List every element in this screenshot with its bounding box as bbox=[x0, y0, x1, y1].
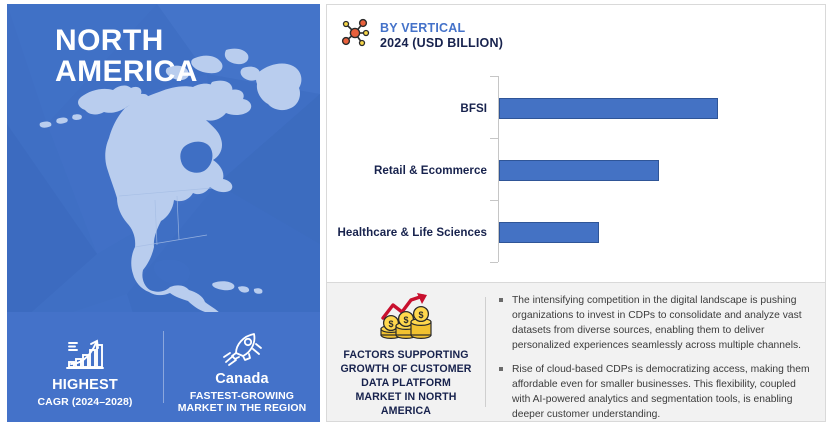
svg-text:$: $ bbox=[418, 310, 423, 320]
svg-text:$: $ bbox=[388, 319, 393, 329]
factors-section: $ $ bbox=[327, 283, 825, 421]
bar-value-healthcare-life-sciences bbox=[499, 222, 599, 243]
network-nodes-icon-svg bbox=[339, 17, 371, 49]
bar-label: Retail & Ecommerce bbox=[327, 164, 493, 177]
coin-stacks-growth-arrow-icon: $ $ bbox=[375, 291, 437, 346]
list-item: Rise of cloud-based CDPs is democratizin… bbox=[496, 362, 815, 422]
chart-header: BY VERTICAL 2024 (USD BILLION) bbox=[339, 17, 503, 54]
bar-label: Healthcare & Life Sciences bbox=[327, 226, 493, 239]
region-title: NORTH AMERICA bbox=[55, 26, 198, 87]
region-title-line2: AMERICA bbox=[55, 57, 198, 88]
content-panel: BY VERTICAL 2024 (USD BILLION) BFSI Reta… bbox=[326, 4, 826, 422]
factors-bullet-list: The intensifying competition in the digi… bbox=[496, 293, 815, 422]
growth-chart-icon-svg bbox=[63, 335, 107, 373]
axis-tick bbox=[490, 76, 498, 77]
chart-subtitle: 2024 (USD BILLION) bbox=[380, 36, 503, 51]
factors-title-line2: GROWTH OF CUSTOMER bbox=[340, 363, 471, 377]
stat-fastest-growing-canada: Canada FASTEST-GROWING MARKET IN THE REG… bbox=[164, 319, 320, 416]
axis-tick bbox=[490, 200, 498, 201]
chart-header-text: BY VERTICAL 2024 (USD BILLION) bbox=[380, 21, 503, 50]
axis-tick bbox=[490, 262, 498, 263]
growth-bar-chart-arrow-icon bbox=[63, 333, 107, 373]
factors-title-line5: AMERICA bbox=[340, 405, 471, 419]
bar-chart: BFSI Retail & Ecommerce Healthcare & Lif… bbox=[327, 67, 825, 279]
infographic-root: NORTH AMERICA bbox=[0, 0, 832, 427]
network-nodes-icon bbox=[339, 17, 371, 54]
bar-value-bfsi bbox=[499, 98, 718, 119]
svg-text:$: $ bbox=[403, 315, 408, 325]
coin-stacks-icon-svg: $ $ bbox=[375, 291, 437, 341]
region-title-line1: NORTH bbox=[55, 26, 198, 57]
stat-title-highest: HIGHEST bbox=[52, 378, 118, 394]
stat-subtitle-line2: MARKET IN THE REGION bbox=[178, 402, 307, 415]
factors-title-line1: FACTORS SUPPORTING bbox=[340, 349, 471, 363]
region-panel: NORTH AMERICA bbox=[7, 4, 320, 422]
region-stats-band: HIGHEST CAGR (2024–2028) bbox=[7, 312, 320, 422]
axis-tick bbox=[490, 138, 498, 139]
stat-subtitle-line1: FASTEST-GROWING bbox=[178, 390, 307, 403]
bar-row-healthcare-life-sciences: Healthcare & Life Sciences bbox=[327, 220, 825, 244]
stat-subtitle-fastest-growing: FASTEST-GROWING MARKET IN THE REGION bbox=[178, 390, 307, 416]
bar-label: BFSI bbox=[327, 102, 493, 115]
rocket-icon bbox=[220, 327, 264, 367]
stat-subtitle-cagr: CAGR (2024–2028) bbox=[38, 396, 133, 409]
factors-title: FACTORS SUPPORTING GROWTH OF CUSTOMER DA… bbox=[340, 349, 471, 419]
bar-value-retail-ecommerce bbox=[499, 160, 659, 181]
stat-title-canada: Canada bbox=[215, 372, 269, 388]
factors-bullets-block: The intensifying competition in the digi… bbox=[486, 283, 825, 421]
factors-title-line3: DATA PLATFORM bbox=[340, 377, 471, 391]
bar-row-retail-ecommerce: Retail & Ecommerce bbox=[327, 158, 825, 182]
bar-row-bfsi: BFSI bbox=[327, 96, 825, 120]
rocket-icon-svg bbox=[220, 329, 264, 367]
chart-title: BY VERTICAL bbox=[380, 21, 503, 36]
factors-heading-block: $ $ bbox=[327, 283, 485, 421]
factors-title-line4: MARKET IN NORTH bbox=[340, 391, 471, 405]
stat-highest-cagr: HIGHEST CAGR (2024–2028) bbox=[7, 325, 163, 409]
list-item: The intensifying competition in the digi… bbox=[496, 293, 815, 353]
